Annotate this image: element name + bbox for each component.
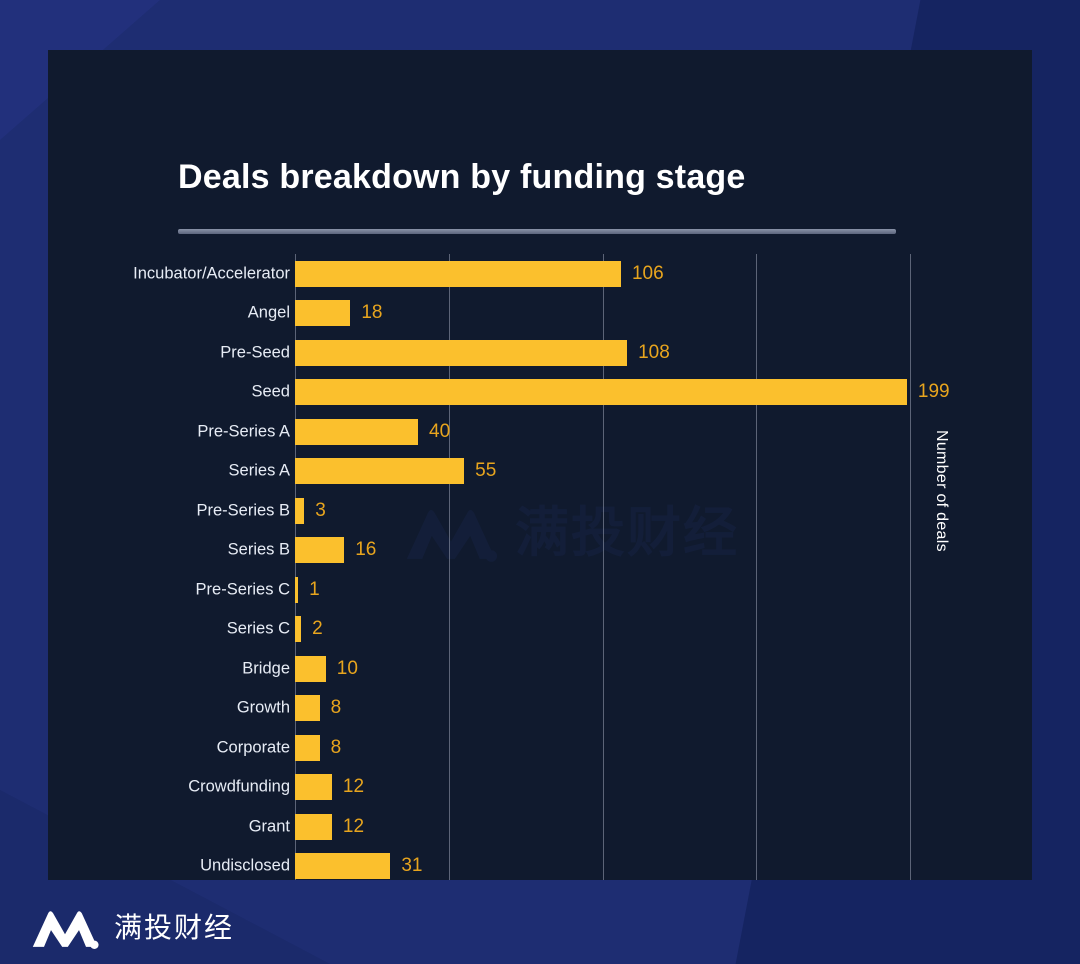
bar[interactable] <box>295 261 621 287</box>
bar-row[interactable]: Pre-Series A40 <box>48 412 1032 452</box>
category-label: Angel <box>248 304 290 323</box>
bar-value-label: 108 <box>638 342 670 364</box>
bar[interactable] <box>295 656 326 682</box>
bar[interactable] <box>295 537 344 563</box>
bar-value-label: 1 <box>309 579 320 601</box>
bar-value-label: 12 <box>343 816 364 838</box>
bar[interactable] <box>295 853 390 879</box>
axis-title-number-of-deals: Number of deals <box>932 430 950 552</box>
bar-value-label: 40 <box>429 421 450 443</box>
bar[interactable] <box>295 814 332 840</box>
category-label: Undisclosed <box>200 857 290 876</box>
bar-row[interactable]: Corporate8 <box>48 728 1032 768</box>
bar[interactable] <box>295 458 464 484</box>
category-label: Corporate <box>217 738 290 757</box>
bar-row[interactable]: Pre-Series B3 <box>48 491 1032 531</box>
bar-row[interactable]: Series C2 <box>48 610 1032 650</box>
category-label: Pre-Series A <box>197 422 290 441</box>
page-root: 满投财经 Deals breakdown by funding stage 05… <box>0 0 1080 964</box>
bar-row[interactable]: Incubator/Accelerator106 <box>48 254 1032 294</box>
bar[interactable] <box>295 340 627 366</box>
bar-value-label: 2 <box>312 618 323 640</box>
bar-value-label: 16 <box>355 539 376 561</box>
bar-value-label: 106 <box>632 263 664 285</box>
bar[interactable] <box>295 616 301 642</box>
bar-value-label: 199 <box>918 381 950 403</box>
bar-value-label: 12 <box>343 776 364 798</box>
category-label: Series B <box>228 541 290 560</box>
plot-area: 050100150200Incubator/Accelerator106Ange… <box>48 50 1032 880</box>
bar-value-label: 10 <box>337 658 358 680</box>
bar-value-label: 55 <box>475 460 496 482</box>
category-label: Seed <box>251 383 290 402</box>
category-label: Growth <box>237 699 290 718</box>
bar-value-label: 8 <box>331 697 342 719</box>
bar-value-label: 3 <box>315 500 326 522</box>
bar-value-label: 18 <box>361 302 382 324</box>
category-label: Crowdfunding <box>188 778 290 797</box>
bar[interactable] <box>295 300 350 326</box>
category-label: Bridge <box>242 659 290 678</box>
bar-row[interactable]: Angel18 <box>48 294 1032 334</box>
bar-value-label: 8 <box>331 737 342 759</box>
bar-row[interactable]: Pre-Seed108 <box>48 333 1032 373</box>
chart-panel: 满投财经 Deals breakdown by funding stage 05… <box>48 50 1032 880</box>
bar-row[interactable]: Growth8 <box>48 689 1032 729</box>
bar-row[interactable]: Bridge10 <box>48 649 1032 689</box>
bar[interactable] <box>295 577 298 603</box>
bar-row[interactable]: Undisclosed31 <box>48 847 1032 881</box>
category-label: Incubator/Accelerator <box>133 264 290 283</box>
category-label: Grant <box>249 817 290 836</box>
bar[interactable] <box>295 695 320 721</box>
bar-row[interactable]: Pre-Series C1 <box>48 570 1032 610</box>
category-label: Pre-Series B <box>196 501 290 520</box>
brand-mark-icon <box>30 906 100 950</box>
category-label: Pre-Seed <box>220 343 290 362</box>
bar[interactable] <box>295 498 304 524</box>
bar-row[interactable]: Series A55 <box>48 452 1032 492</box>
bar-row[interactable]: Grant12 <box>48 807 1032 847</box>
category-label: Pre-Series C <box>196 580 290 599</box>
category-label: Series C <box>227 620 290 639</box>
bar-row[interactable]: Series B16 <box>48 531 1032 571</box>
bar-row[interactable]: Seed199 <box>48 373 1032 413</box>
category-label: Series A <box>229 462 290 481</box>
bar[interactable] <box>295 379 907 405</box>
bar-row[interactable]: Crowdfunding12 <box>48 768 1032 808</box>
bar-value-label: 31 <box>401 855 422 877</box>
brand-logo: 满投财经 <box>30 906 234 950</box>
bar[interactable] <box>295 774 332 800</box>
brand-name: 满投财经 <box>114 914 234 942</box>
bar[interactable] <box>295 419 418 445</box>
bar-rows: Incubator/Accelerator106Angel18Pre-Seed1… <box>48 254 1032 880</box>
bar[interactable] <box>295 735 320 761</box>
